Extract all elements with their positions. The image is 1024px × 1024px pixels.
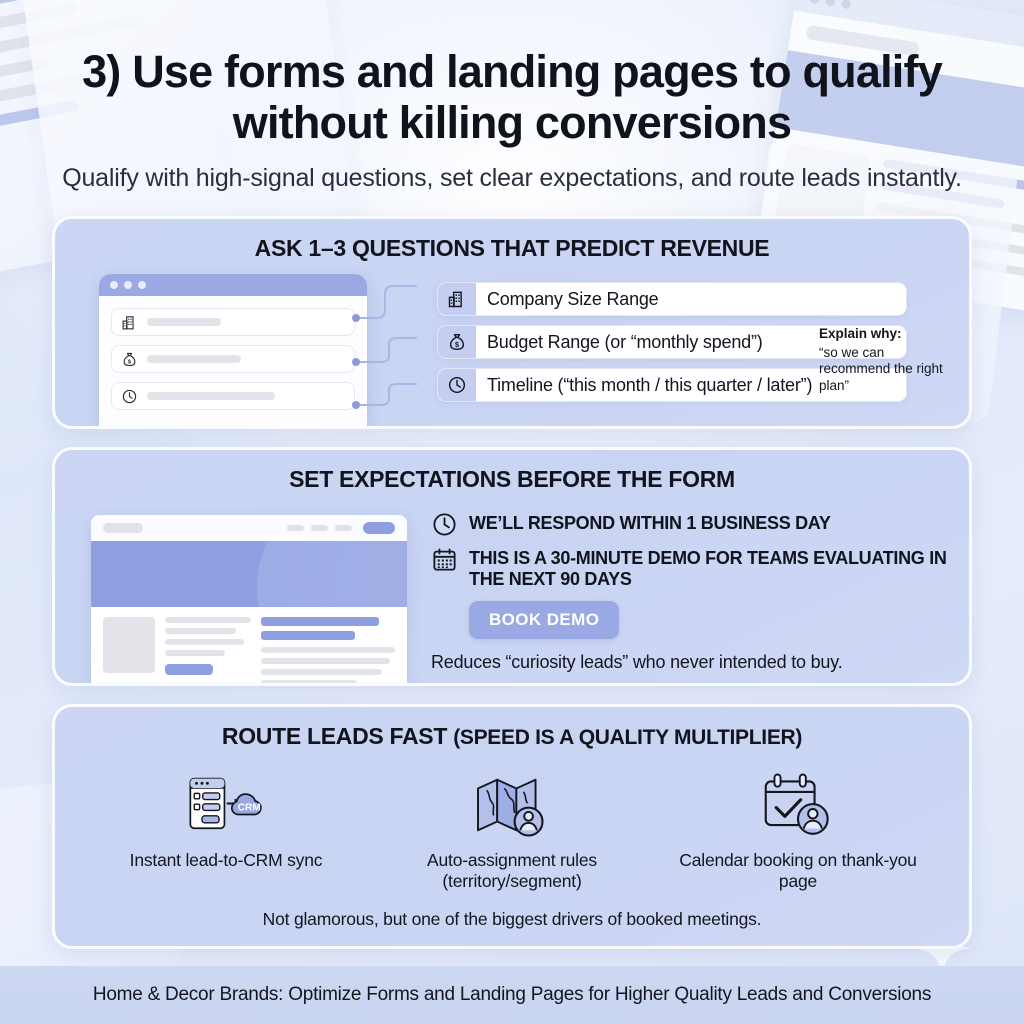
mockup-logo — [103, 523, 143, 533]
card2-note: Reduces “curiosity leads” who never inte… — [431, 652, 947, 673]
mockup-nav-item — [311, 525, 328, 531]
explain-why-note: Explain why: “so we can recommend the ri… — [819, 326, 949, 394]
question-pill-label: Budget Range (or “monthly spend”) — [476, 332, 774, 353]
feature-label: Auto-assignment rules (territory/segment… — [379, 850, 645, 893]
card3-body: CRM Instant lead-to-CRM sync — [55, 762, 969, 946]
card3-title-main: ROUTE LEADS FAST — [222, 723, 453, 749]
crm-badge-label: CRM — [238, 803, 261, 814]
connector-lines — [351, 274, 417, 426]
mockup-navbar — [91, 515, 407, 541]
mockup-hero — [91, 541, 407, 607]
footer-bar: Home & Decor Brands: Optimize Forms and … — [0, 966, 1024, 1024]
feature-auto-assignment: Auto-assignment rules (territory/segment… — [379, 764, 645, 893]
header: 3) Use forms and landing pages to qualif… — [0, 0, 1024, 194]
clock-icon — [121, 388, 138, 405]
card1-body: $ — [55, 274, 969, 426]
form-mockup-titlebar — [99, 274, 367, 296]
card1-title: ASK 1–3 QUESTIONS THAT PREDICT REVENUE — [55, 219, 969, 274]
feature-label: Calendar booking on thank-you page — [665, 850, 931, 893]
svg-text:$: $ — [128, 359, 132, 365]
mockup-nav-item — [335, 525, 352, 531]
form-placeholder-bar — [147, 318, 221, 326]
page-subtitle: Qualify with high-signal questions, set … — [62, 163, 962, 195]
money-bag-icon: $ — [438, 326, 476, 358]
explain-why-body: “so we can recommend the right plan” — [819, 345, 943, 393]
mockup-image-block — [103, 617, 155, 673]
window-dot-icon — [138, 281, 146, 289]
office-building-icon — [438, 283, 476, 315]
card3-title: ROUTE LEADS FAST (SPEED IS A QUALITY MUL… — [55, 707, 969, 762]
expectation-label: WE’LL RESPOND WITHIN 1 BUSINESS DAY — [469, 511, 831, 534]
form-field-budget[interactable]: $ — [111, 345, 355, 373]
connector-dot-icon — [352, 314, 360, 322]
card3-note: Not glamorous, but one of the biggest dr… — [83, 909, 941, 930]
form-placeholder-bar — [147, 392, 275, 400]
expectation-response-time: WE’LL RESPOND WITHIN 1 BUSINESS DAY — [431, 511, 947, 538]
clock-icon — [438, 369, 476, 401]
explain-why-heading: Explain why: — [819, 326, 949, 342]
feature-row: CRM Instant lead-to-CRM sync — [83, 764, 941, 893]
map-territory-user-icon — [379, 764, 645, 846]
clock-icon — [431, 511, 458, 538]
mockup-nav-item — [287, 525, 304, 531]
infographic-page: 3) Use forms and landing pages to qualif… — [0, 0, 1024, 1024]
money-bag-icon: $ — [121, 351, 138, 368]
window-dot-icon — [110, 281, 118, 289]
card-route-leads: ROUTE LEADS FAST (SPEED IS A QUALITY MUL… — [52, 704, 972, 949]
window-dot-icon — [124, 281, 132, 289]
question-pill-label: Timeline (“this month / this quarter / l… — [476, 375, 823, 396]
book-demo-button[interactable]: BOOK DEMO — [469, 601, 619, 639]
office-building-icon — [121, 314, 138, 331]
expectation-label: THIS IS A 30-MINUTE DEMO FOR TEAMS EVALU… — [469, 546, 947, 589]
card2-body: WE’LL RESPOND WITHIN 1 BUSINESS DAY — [55, 505, 969, 683]
mockup-nav-cta — [363, 522, 395, 534]
expectation-demo-length: THIS IS A 30-MINUTE DEMO FOR TEAMS EVALU… — [431, 546, 947, 589]
feature-label: Instant lead-to-CRM sync — [93, 850, 359, 871]
connector-dot-icon — [352, 401, 360, 409]
footer-text: Home & Decor Brands: Optimize Forms and … — [93, 984, 931, 1006]
card-ask-questions: ASK 1–3 QUESTIONS THAT PREDICT REVENUE — [52, 216, 972, 429]
form-field-company-size[interactable] — [111, 308, 355, 336]
form-to-crm-icon: CRM — [93, 764, 359, 846]
feature-crm-sync: CRM Instant lead-to-CRM sync — [93, 764, 359, 871]
cards-container: ASK 1–3 QUESTIONS THAT PREDICT REVENUE — [0, 216, 1024, 949]
calendar-check-user-icon — [665, 764, 931, 846]
card2-right-column: WE’LL RESPOND WITHIN 1 BUSINESS DAY — [407, 505, 947, 683]
card3-title-paren: (SPEED IS A QUALITY MULTIPLIER) — [453, 726, 802, 749]
form-field-timeline[interactable] — [111, 382, 355, 410]
landing-page-mockup — [91, 515, 407, 683]
question-pill-label: Company Size Range — [476, 289, 670, 310]
calendar-icon — [431, 546, 458, 573]
card2-title: SET EXPECTATIONS BEFORE THE FORM — [55, 450, 969, 505]
connector-dot-icon — [352, 358, 360, 366]
feature-calendar-booking: Calendar booking on thank-you page — [665, 764, 931, 893]
page-title: 3) Use forms and landing pages to qualif… — [62, 46, 962, 149]
form-mockup: $ — [99, 274, 367, 426]
form-placeholder-bar — [147, 355, 241, 363]
svg-text:$: $ — [455, 341, 459, 349]
question-pill-company-size[interactable]: Company Size Range — [437, 282, 907, 316]
card-set-expectations: SET EXPECTATIONS BEFORE THE FORM — [52, 447, 972, 686]
